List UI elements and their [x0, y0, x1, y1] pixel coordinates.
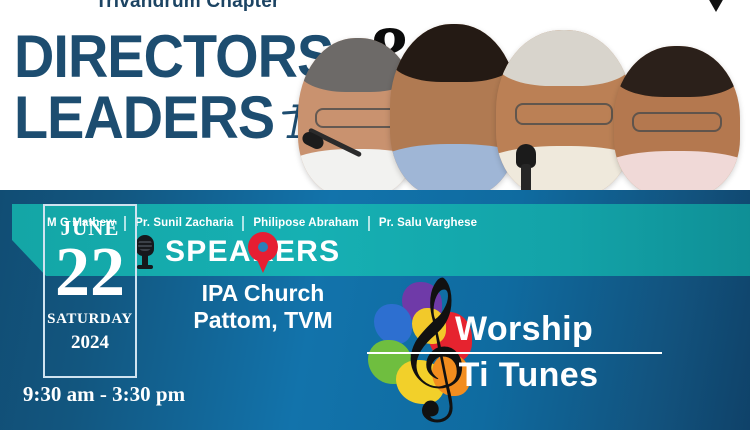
- event-poster: Trivandrum Chapter DIRECTORS & LEADERS M…: [0, 0, 750, 430]
- date-year: 2024: [45, 332, 135, 354]
- speaker-name: Pr. Salu Varghese: [370, 217, 486, 229]
- venue-line-2: Pattom, TVM: [168, 307, 358, 334]
- worship-block: Worship Ti Tunes: [455, 310, 662, 395]
- worship-divider: [367, 352, 662, 354]
- name-divider: [368, 216, 370, 231]
- date-day: 22: [45, 243, 135, 303]
- title-line-2: LEADERS: [14, 92, 274, 145]
- worship-team-name: Ti Tunes: [421, 356, 636, 395]
- date-card: JUNE 22 SATURDAY 2024: [43, 204, 137, 378]
- chapter-label: Trivandrum Chapter: [0, 0, 375, 13]
- event-time: 9:30 am - 3:30 pm: [14, 382, 194, 407]
- speaker-photo-4: [614, 46, 740, 190]
- speaker-name-list: M G Mathew Pr. Sunil Zacharia Philipose …: [38, 213, 738, 233]
- mic-stand-icon: [306, 134, 368, 190]
- date-weekday: SATURDAY: [45, 311, 135, 328]
- location-pin-icon: [248, 232, 278, 274]
- microphone-icon: [134, 235, 156, 269]
- name-divider: [242, 216, 244, 231]
- speaker-photos: [298, 16, 750, 190]
- handheld-mic-icon: [516, 144, 536, 190]
- venue-line-1: IPA Church: [168, 280, 358, 307]
- poster-body: M G Mathew Pr. Sunil Zacharia Philipose …: [0, 190, 750, 430]
- poster-header: Trivandrum Chapter DIRECTORS & LEADERS M…: [0, 0, 750, 190]
- triangle-decoration: [700, 0, 732, 12]
- worship-label: Worship: [455, 310, 662, 349]
- speaker-name: Pr. Sunil Zacharia: [126, 217, 242, 229]
- speaker-name: Philipose Abraham: [244, 217, 367, 229]
- venue-block: IPA Church Pattom, TVM: [168, 232, 358, 334]
- title-line-1: DIRECTORS: [14, 31, 333, 84]
